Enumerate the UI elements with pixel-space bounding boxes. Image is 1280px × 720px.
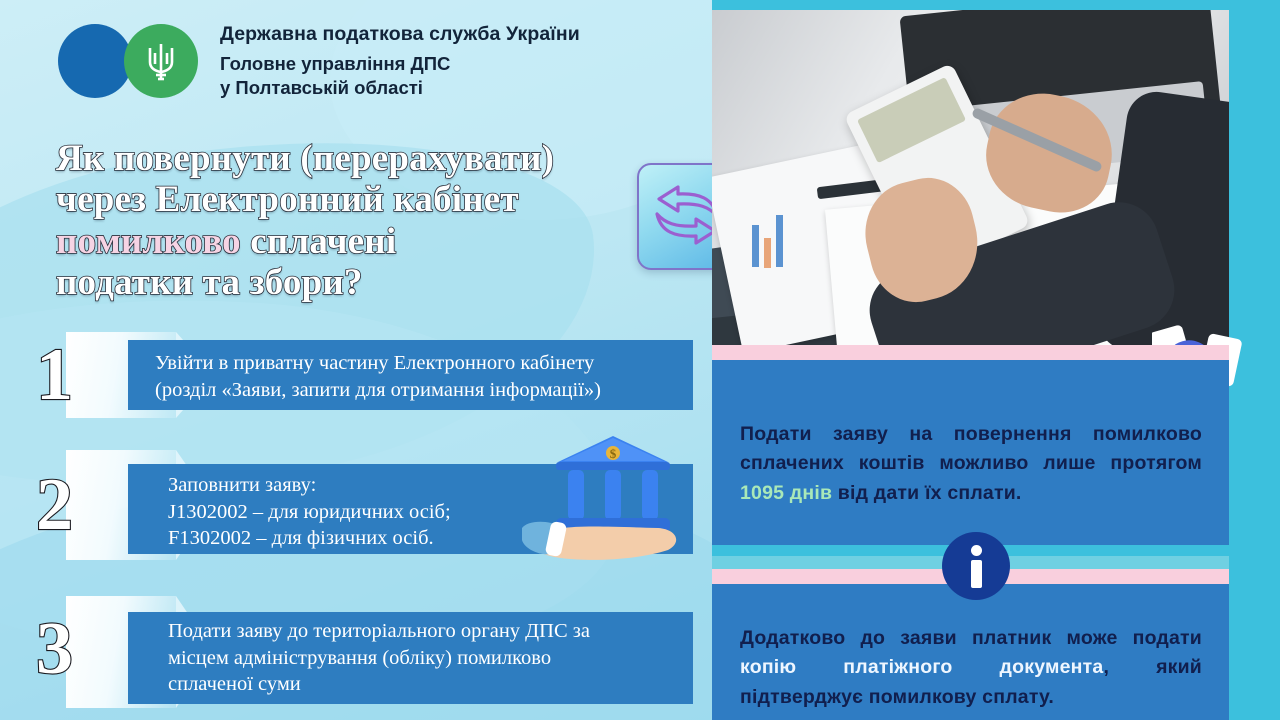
title-line-1: Як повернути (перерахувати)	[56, 138, 656, 179]
step-2-text: Заповнити заяву: J1302002 – для юридични…	[168, 472, 548, 552]
org-line-2a: Головне управління ДПС	[220, 52, 580, 76]
infographic-root: Державна податкова служба України Головн…	[0, 0, 1280, 720]
divider-pink-top	[712, 345, 1229, 360]
info-icon	[942, 532, 1010, 600]
step-1-number: 1	[36, 338, 73, 412]
title-line-2: через Електронний кабінет	[56, 179, 656, 220]
info-text-2: Додатково до заяви платник може подати к…	[740, 624, 1202, 712]
step-3-line-3: сплаченої суми	[168, 671, 668, 698]
org-name: Державна податкова служба України Головн…	[220, 22, 580, 100]
step-2-number: 2	[36, 468, 73, 542]
info-2-highlight: копію платіжного документа	[740, 656, 1103, 678]
step-3-line-2: місцем адміністрування (обліку) помилков…	[168, 645, 668, 672]
header: Державна податкова служба України Головн…	[58, 22, 580, 100]
svg-text:$: $	[610, 446, 617, 461]
title-line-4: податки та збори?	[56, 262, 656, 303]
org-line-2b: у Полтавській області	[220, 76, 580, 100]
logo-green-trident-icon	[124, 24, 198, 98]
photo-calculator-finance	[712, 10, 1229, 345]
step-3-line-1: Подати заяву до територіального органу Д…	[168, 618, 668, 645]
info-2-part1: Додатково до заяви платник може подати	[740, 627, 1202, 649]
step-3-number: 3	[36, 612, 73, 686]
info-1-highlight: 1095 днів	[740, 482, 832, 504]
hand-holding-bank-icon: $	[508, 428, 718, 563]
info-1-part2: від дати їх сплати.	[832, 482, 1021, 504]
step-3-text: Подати заяву до територіального органу Д…	[168, 618, 668, 698]
page-title: Як повернути (перерахувати) через Електр…	[56, 138, 656, 304]
step-2-line-2: J1302002 – для юридичних осіб;	[168, 499, 548, 526]
step-2-line-1: Заповнити заяву:	[168, 472, 548, 499]
step-1-line-1: Увійти в приватну частину Електронного к…	[155, 350, 695, 377]
info-text-1: Подати заяву на повернення помилково спл…	[740, 420, 1202, 508]
org-line-1: Державна податкова служба України	[220, 22, 580, 46]
title-line-3: помилково сплачені	[56, 221, 656, 262]
step-2-line-3: F1302002 – для фізичних осіб.	[168, 525, 548, 552]
title-line-3-rest: сплачені	[241, 221, 396, 262]
info-1-part1: Подати заяву на повернення помилково спл…	[740, 423, 1202, 474]
step-1-text: Увійти в приватну частину Електронного к…	[155, 350, 695, 403]
logo-blue-circle-icon	[58, 24, 132, 98]
title-highlight: помилково	[56, 221, 241, 262]
step-1-line-2: (розділ «Заяви, запити для отримання інф…	[155, 377, 695, 404]
